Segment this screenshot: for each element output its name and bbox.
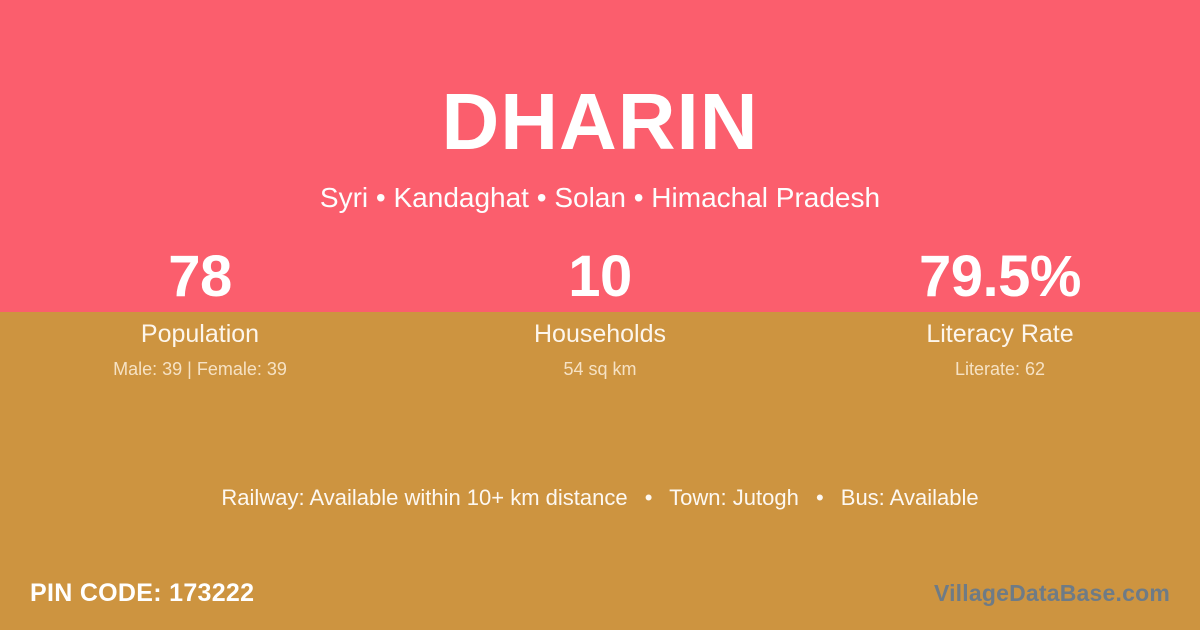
amenity-separator-icon: • [634,485,664,511]
hero-section: DHARIN Syri • Kandaghat • Solan • Himach… [0,0,1200,214]
amenity-bus: Bus: Available [841,485,979,510]
stat-literacy-count: Literate: 62 [800,360,1200,380]
amenity-separator-icon: • [805,485,835,511]
stat-population-value: 78 [0,246,400,309]
pin-code-label: PIN CODE: 173222 [30,579,254,608]
stat-households-label: Households [400,321,800,349]
stat-households-value: 10 [400,246,800,309]
statistics-row: 78 Population Male: 39 | Female: 39 10 H… [0,246,1200,380]
stat-literacy: 79.5% Literacy Rate Literate: 62 [800,246,1200,380]
stat-population: 78 Population Male: 39 | Female: 39 [0,246,400,380]
page-title: DHARIN [0,82,1200,162]
amenity-railway: Railway: Available within 10+ km distanc… [221,485,627,510]
amenities-row: Railway: Available within 10+ km distanc… [0,485,1200,511]
stat-population-breakdown: Male: 39 | Female: 39 [0,360,400,380]
stat-literacy-label: Literacy Rate [800,321,1200,349]
footer: PIN CODE: 173222 VillageDataBase.com [0,556,1200,630]
stat-population-label: Population [0,321,400,349]
stat-literacy-value: 79.5% [800,246,1200,309]
stat-households-area: 54 sq km [400,360,800,380]
breadcrumb: Syri • Kandaghat • Solan • Himachal Prad… [0,183,1200,214]
site-brand-logo: VillageDataBase.com [934,580,1170,607]
village-info-card: DHARIN Syri • Kandaghat • Solan • Himach… [0,0,1200,630]
amenity-town: Town: Jutogh [669,485,799,510]
stat-households: 10 Households 54 sq km [400,246,800,380]
